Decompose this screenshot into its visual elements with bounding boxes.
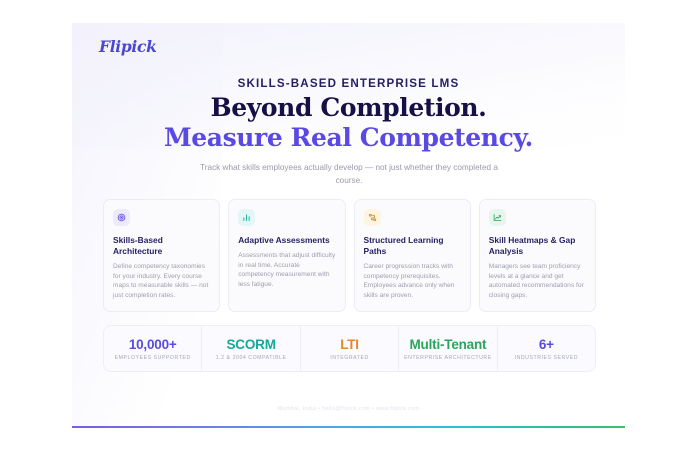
feature-card-grid: Skills-Based Architecture Define compete… <box>103 199 596 312</box>
stat-value: SCORM <box>226 337 275 352</box>
feature-card-title: Structured Learning Paths <box>364 235 461 257</box>
stat-label: 1.2 & 2004 COMPATIBLE <box>216 355 287 361</box>
feature-card: Adaptive Assessments Assessments that ad… <box>228 199 345 312</box>
stat-item: 10,000+ EMPLOYEES SUPPORTED <box>104 326 202 371</box>
hero-subtitle: Track what skills employees actually dev… <box>194 162 504 187</box>
footer-gradient-bar <box>72 426 625 428</box>
stat-label: INDUSTRIES SERVED <box>515 355 578 361</box>
hero-headline-line-2: Measure Real Competency. <box>72 123 625 152</box>
screenshot-canvas: Flipick SKILLS-BASED ENTERPRISE LMS Beyo… <box>0 0 696 451</box>
footer-contact: Mumbai, India • hello@flipick.com • www.… <box>72 406 625 412</box>
stats-bar: 10,000+ EMPLOYEES SUPPORTED SCORM 1.2 & … <box>103 325 596 372</box>
brand-logo: Flipick <box>99 37 157 56</box>
feature-card-body: Define competency taxonomies for your in… <box>113 262 210 300</box>
stat-label: EMPLOYEES SUPPORTED <box>115 355 191 361</box>
feature-card-body: Managers see team proficiency levels at … <box>489 262 586 300</box>
stat-value: 6+ <box>539 337 554 352</box>
feature-card: Structured Learning Paths Career progres… <box>354 199 471 312</box>
stat-value: Multi-Tenant <box>410 337 487 352</box>
stat-item: SCORM 1.2 & 2004 COMPATIBLE <box>202 326 300 371</box>
hero-eyebrow: SKILLS-BASED ENTERPRISE LMS <box>72 77 625 90</box>
stat-value: 10,000+ <box>129 337 177 352</box>
stat-item: Multi-Tenant ENTERPRISE ARCHITECTURE <box>399 326 497 371</box>
stat-item: 6+ INDUSTRIES SERVED <box>498 326 595 371</box>
feature-card-body: Career progression tracks with competenc… <box>364 262 461 300</box>
feature-card-title: Skill Heatmaps & Gap Analysis <box>489 235 586 257</box>
feature-card-title: Skills-Based Architecture <box>113 235 210 257</box>
stat-label: ENTERPRISE ARCHITECTURE <box>404 355 492 361</box>
target-icon <box>113 209 130 226</box>
presentation-slide: Flipick SKILLS-BASED ENTERPRISE LMS Beyo… <box>72 23 625 428</box>
feature-card-body: Assessments that adjust difficulty in re… <box>238 251 335 289</box>
bar-chart-icon <box>238 209 255 226</box>
stat-label: INTEGRATED <box>330 355 369 361</box>
stat-value: LTI <box>340 337 359 352</box>
hero-headline-line-1: Beyond Completion. <box>72 93 625 122</box>
feature-card-title: Adaptive Assessments <box>238 235 335 246</box>
route-icon <box>364 209 381 226</box>
feature-card: Skill Heatmaps & Gap Analysis Managers s… <box>479 199 596 312</box>
stat-item: LTI INTEGRATED <box>301 326 399 371</box>
trending-up-icon <box>489 209 506 226</box>
feature-card: Skills-Based Architecture Define compete… <box>103 199 220 312</box>
